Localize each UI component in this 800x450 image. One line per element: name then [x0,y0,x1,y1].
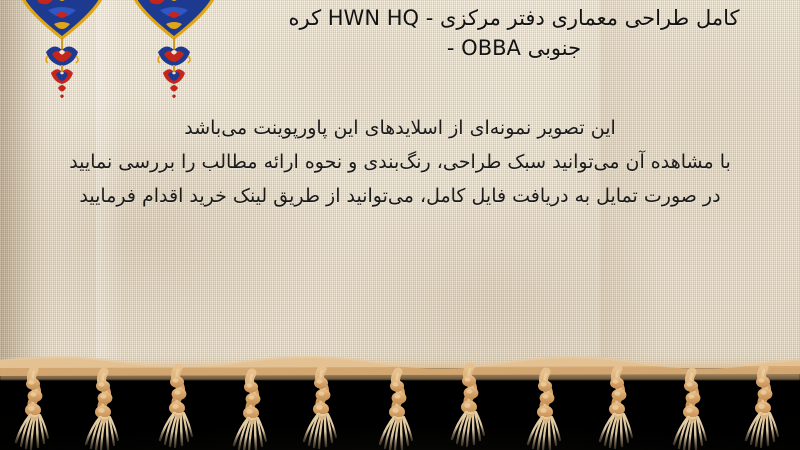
slide-body-line-1: این تصویر نمونه‌ای از اسلایدهای این پاور… [14,112,786,146]
slide-title-line-2: جنوبی OBBA - [244,34,784,64]
slide-body-text: این تصویر نمونه‌ای از اسلایدهای این پاور… [14,112,786,213]
presentation-slide: کامل طراحی معماری دفتر مرکزی - HWN HQ کر… [0,0,800,450]
persian-pendant-medallion-left-icon [14,0,110,108]
slide-body-line-3: در صورت تمایل به دریافت فایل کامل، می‌تو… [14,180,786,214]
slide-body-line-2: با مشاهده آن می‌توانید سبک طراحی، رنگ‌بن… [14,146,786,180]
slide-title: کامل طراحی معماری دفتر مرکزی - HWN HQ کر… [244,4,784,64]
dark-lower-background [0,368,800,450]
slide-title-line-1: کامل طراحی معماری دفتر مرکزی - HWN HQ کر… [244,4,784,34]
carpet-bottom-edge [0,356,800,380]
persian-pendant-medallion-right-icon [126,0,222,108]
